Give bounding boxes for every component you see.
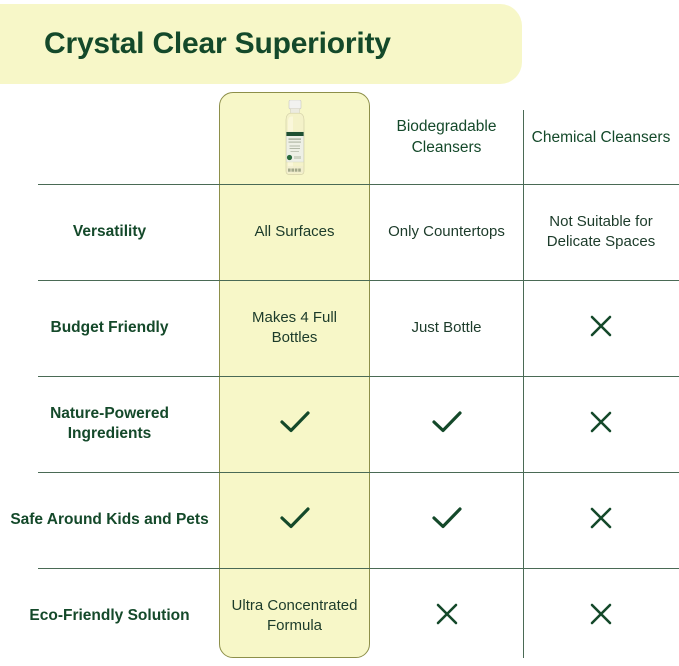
header-label-chemical: Chemical Cleansers xyxy=(532,128,671,149)
value-cell-product-safe xyxy=(219,472,370,568)
feature-label: Eco-Friendly Solution xyxy=(29,606,189,626)
row-divider-3 xyxy=(38,472,679,473)
value-cell-biodegradable-eco xyxy=(370,568,523,664)
value-cell-chemical-safe xyxy=(523,472,679,568)
table-row: Budget Friendly Makes 4 Full Bottles Jus… xyxy=(0,280,679,376)
value-cell-biodegradable-budget: Just Bottle xyxy=(370,280,523,376)
feature-label: Safe Around Kids and Pets xyxy=(10,510,208,530)
row-divider-4 xyxy=(38,568,679,569)
title-banner: Crystal Clear Superiority xyxy=(0,4,522,84)
check-icon xyxy=(278,504,312,537)
page-title: Crystal Clear Superiority xyxy=(44,27,391,61)
cross-icon xyxy=(588,601,614,632)
value-text: Just Bottle xyxy=(411,318,481,338)
value-text: All Surfaces xyxy=(254,222,334,242)
value-text: Makes 4 Full Bottles xyxy=(227,308,362,349)
value-cell-biodegradable-nature xyxy=(370,376,523,472)
value-cell-product-versatility: All Surfaces xyxy=(219,184,370,280)
cross-icon xyxy=(588,505,614,536)
feature-cell-budget-friendly: Budget Friendly xyxy=(0,280,219,376)
value-cell-product-budget: Makes 4 Full Bottles xyxy=(219,280,370,376)
header-label-biodegradable: Biodegradable Cleansers xyxy=(378,117,515,159)
value-text: Only Countertops xyxy=(388,222,505,242)
value-text: Ultra Concentrated Formula xyxy=(227,596,362,637)
cross-icon xyxy=(588,409,614,440)
feature-cell-eco-friendly: Eco-Friendly Solution xyxy=(0,568,219,664)
value-cell-product-eco: Ultra Concentrated Formula xyxy=(219,568,370,664)
feature-cell-versatility: Versatility xyxy=(0,184,219,280)
feature-label: Budget Friendly xyxy=(51,318,169,338)
table-row: Eco-Friendly Solution Ultra Concentrated… xyxy=(0,568,679,664)
cross-icon xyxy=(588,313,614,344)
feature-label: Nature-Powered Ingredients xyxy=(8,404,211,445)
check-icon xyxy=(430,504,464,537)
row-divider-2 xyxy=(38,376,679,377)
product-bottle-image xyxy=(278,100,312,176)
header-cell-feature xyxy=(0,92,219,184)
comparison-table: Biodegradable Cleansers Chemical Cleanse… xyxy=(0,92,679,664)
value-cell-chemical-budget xyxy=(523,280,679,376)
cross-icon xyxy=(434,601,460,632)
table-header-row: Biodegradable Cleansers Chemical Cleanse… xyxy=(0,92,679,184)
value-text: Not Suitable for Delicate Spaces xyxy=(531,212,671,253)
row-divider-header xyxy=(38,184,679,185)
column-divider-bio-chem xyxy=(523,110,524,658)
table-row: Safe Around Kids and Pets xyxy=(0,472,679,568)
table-grid: Biodegradable Cleansers Chemical Cleanse… xyxy=(0,92,679,664)
header-cell-chemical: Chemical Cleansers xyxy=(523,92,679,184)
table-row: Versatility All Surfaces Only Countertop… xyxy=(0,184,679,280)
row-divider-1 xyxy=(38,280,679,281)
header-cell-biodegradable: Biodegradable Cleansers xyxy=(370,92,523,184)
check-icon xyxy=(430,408,464,441)
feature-cell-nature-powered: Nature-Powered Ingredients xyxy=(0,376,219,472)
value-cell-chemical-nature xyxy=(523,376,679,472)
feature-cell-safe-around-kids: Safe Around Kids and Pets xyxy=(0,472,219,568)
value-cell-biodegradable-versatility: Only Countertops xyxy=(370,184,523,280)
value-cell-biodegradable-safe xyxy=(370,472,523,568)
feature-label: Versatility xyxy=(73,222,146,242)
check-icon xyxy=(278,408,312,441)
header-cell-product xyxy=(219,92,370,184)
table-row: Nature-Powered Ingredients xyxy=(0,376,679,472)
value-cell-product-nature xyxy=(219,376,370,472)
value-cell-chemical-versatility: Not Suitable for Delicate Spaces xyxy=(523,184,679,280)
value-cell-chemical-eco xyxy=(523,568,679,664)
